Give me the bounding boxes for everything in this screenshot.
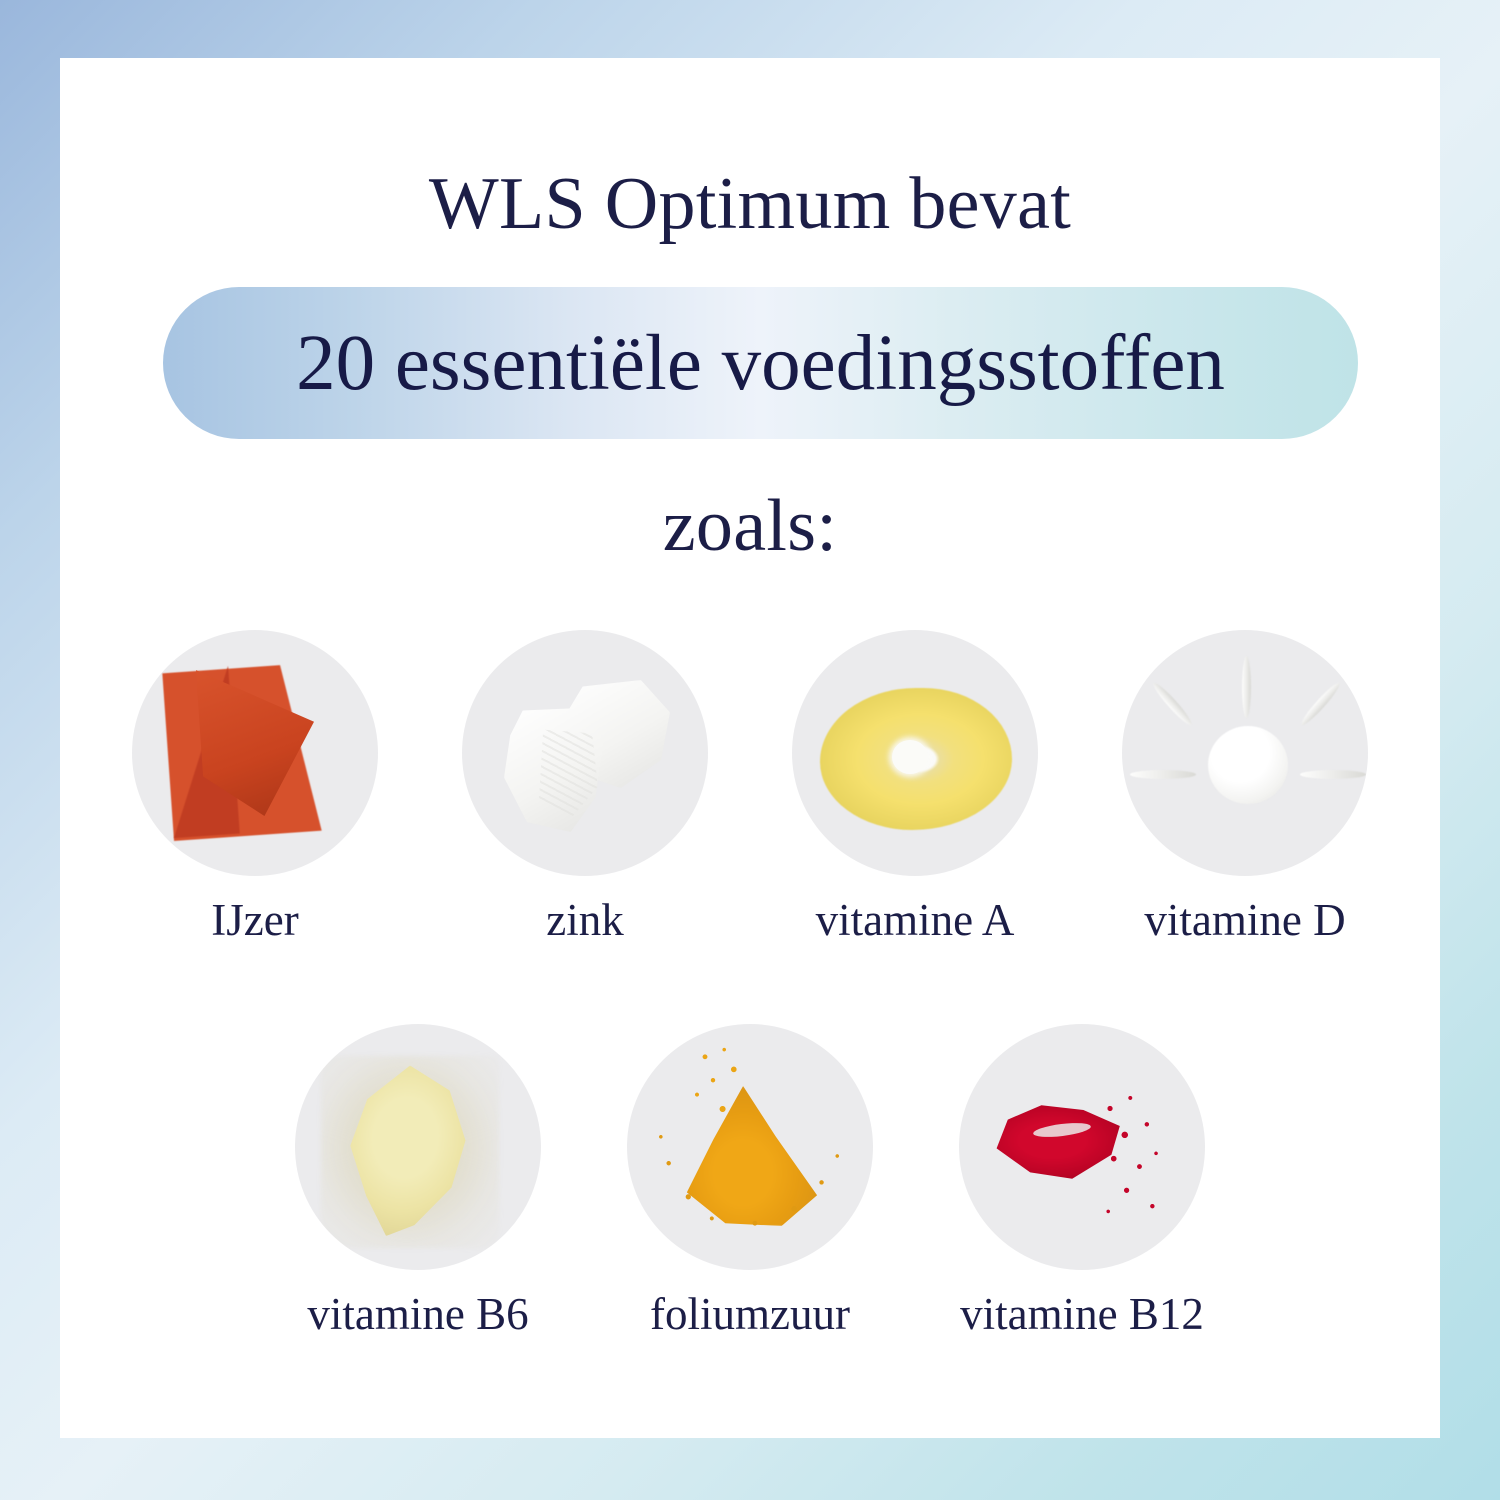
nutrient-label-vitamine-b6: vitamine B6 bbox=[307, 1292, 528, 1337]
highlight-banner-text: 20 essentiële voedingsstoffen bbox=[296, 324, 1225, 403]
vitamin-d-sun-art bbox=[1122, 630, 1368, 876]
sun-ray-top bbox=[1242, 656, 1251, 718]
iron-powder-icon bbox=[132, 630, 378, 876]
sun-core bbox=[1208, 726, 1288, 804]
nutrient-label-vitamine-b12: vitamine B12 bbox=[960, 1292, 1204, 1337]
vitamin-a-powder-icon bbox=[792, 630, 1038, 876]
nutrient-row-1: IJzer zink bbox=[60, 630, 1440, 943]
highlight-banner: 20 essentiële voedingsstoffen bbox=[163, 287, 1358, 439]
vitamin-b12-powder-art bbox=[959, 1024, 1205, 1270]
nutrient-item-vitamine-d: vitamine D bbox=[1122, 630, 1368, 943]
folic-acid-dust bbox=[653, 1108, 849, 1228]
folic-acid-powder-art bbox=[627, 1024, 873, 1270]
iron-powder-art bbox=[132, 630, 378, 876]
content-card: WLS Optimum bevat 20 essentiële voedings… bbox=[60, 58, 1440, 1438]
sun-ray-top-right bbox=[1298, 680, 1342, 728]
nutrient-item-vitamine-b6: vitamine B6 bbox=[295, 1024, 541, 1337]
sun-ray-top-left bbox=[1150, 680, 1194, 728]
nutrient-item-zink: zink bbox=[462, 630, 708, 943]
nutrient-item-foliumzuur: foliumzuur bbox=[627, 1024, 873, 1337]
nutrient-item-vitamine-b12: vitamine B12 bbox=[959, 1024, 1205, 1337]
sun-ray-right bbox=[1300, 770, 1366, 779]
page-title: WLS Optimum bevat bbox=[60, 166, 1440, 244]
poster-canvas: WLS Optimum bevat 20 essentiële voedings… bbox=[0, 0, 1500, 1500]
nutrient-label-ijzer: IJzer bbox=[211, 898, 298, 943]
vitamin-b12-dust bbox=[1099, 1090, 1191, 1222]
nutrient-label-foliumzuur: foliumzuur bbox=[650, 1292, 850, 1337]
vitamin-b12-powder-icon bbox=[959, 1024, 1205, 1270]
folic-acid-powder-icon bbox=[627, 1024, 873, 1270]
vitamin-a-powder-art bbox=[792, 630, 1038, 876]
subtitle: zoals: bbox=[60, 488, 1440, 566]
nutrient-label-vitamine-d: vitamine D bbox=[1144, 898, 1345, 943]
zinc-powder-icon bbox=[462, 630, 708, 876]
vitamin-b6-powder-art bbox=[295, 1024, 541, 1270]
nutrient-label-vitamine-a: vitamine A bbox=[816, 898, 1015, 943]
vitamin-b6-powder-icon bbox=[295, 1024, 541, 1270]
sun-ray-left bbox=[1130, 770, 1196, 779]
nutrient-item-ijzer: IJzer bbox=[132, 630, 378, 943]
nutrient-label-zink: zink bbox=[546, 898, 623, 943]
nutrient-item-vitamine-a: vitamine A bbox=[792, 630, 1038, 943]
zinc-powder-art bbox=[462, 630, 708, 876]
vitamin-a-center-hole bbox=[892, 740, 928, 774]
nutrient-row-2: vitamine B6 foliumzuur bbox=[60, 1024, 1440, 1337]
vitamin-d-sun-icon bbox=[1122, 630, 1368, 876]
